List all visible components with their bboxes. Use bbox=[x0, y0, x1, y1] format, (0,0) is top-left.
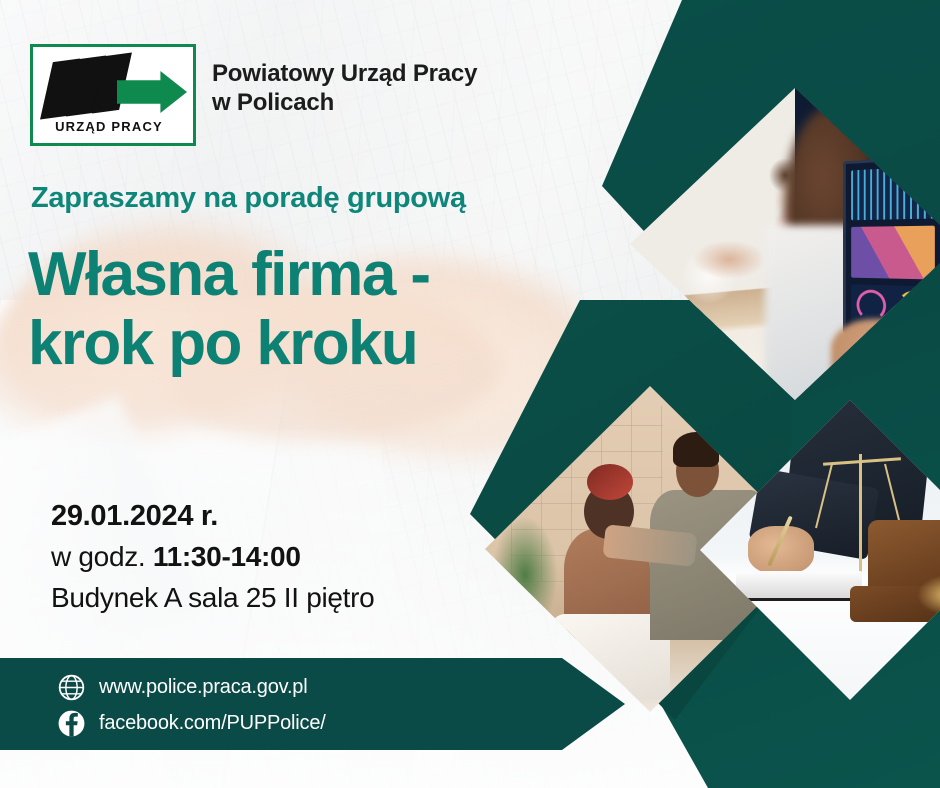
green-arrow-right-icon bbox=[117, 71, 187, 113]
event-details: 29.01.2024 r. w godz. 11:30-14:00 Budyne… bbox=[51, 495, 521, 619]
urzad-pracy-logo: URZĄD PRACY bbox=[30, 44, 196, 146]
scales-of-justice-post bbox=[859, 454, 862, 574]
facebook-icon bbox=[58, 710, 85, 737]
facebook-link[interactable]: facebook.com/PUPPolice/ bbox=[58, 710, 326, 737]
page-title: Własna firma - krok po kroku bbox=[28, 240, 548, 379]
organisation-name-line2: w Policach bbox=[212, 88, 512, 117]
logo-caption: URZĄD PRACY bbox=[33, 119, 185, 134]
event-date: 29.01.2024 r. bbox=[51, 495, 521, 537]
event-hours: w godz. 11:30-14:00 bbox=[51, 537, 521, 578]
event-hours-value: 11:30-14:00 bbox=[153, 541, 301, 572]
website-link[interactable]: www.police.praca.gov.pl bbox=[58, 674, 307, 701]
invitation-subtitle: Zapraszamy na poradę grupową bbox=[31, 182, 466, 215]
website-link-label: www.police.praca.gov.pl bbox=[99, 676, 307, 699]
footer-bar: www.police.praca.gov.pl facebook.com/PUP… bbox=[0, 658, 625, 750]
page-title-line2: krok po kroku bbox=[28, 309, 548, 378]
page-title-line1: Własna firma - bbox=[28, 240, 548, 309]
poster: URZĄD PRACY Powiatowy Urząd Pracy w Poli… bbox=[0, 0, 940, 788]
event-hours-prefix: w godz. bbox=[51, 541, 153, 572]
notepad bbox=[736, 571, 862, 598]
event-location: Budynek A sala 25 II piętro bbox=[51, 578, 521, 619]
dashboard-area-chart bbox=[851, 226, 935, 279]
gauge-pink bbox=[856, 289, 886, 321]
facebook-link-label: facebook.com/PUPPolice/ bbox=[99, 712, 326, 735]
organisation-name: Powiatowy Urząd Pracy w Policach bbox=[212, 59, 512, 118]
globe-icon bbox=[58, 674, 85, 701]
organisation-name-line1: Powiatowy Urząd Pracy bbox=[212, 59, 512, 88]
